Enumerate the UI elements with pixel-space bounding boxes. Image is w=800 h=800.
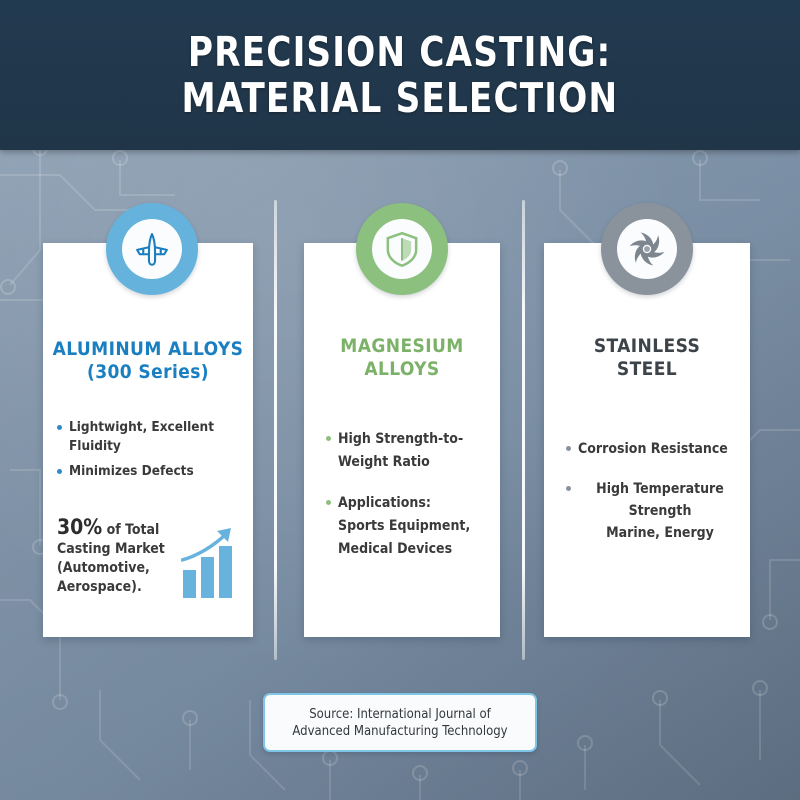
badge-inner-circle xyxy=(122,219,182,279)
badge-aluminum xyxy=(106,203,198,295)
card-title-aluminum-line1: ALUMINUM ALLOYS xyxy=(43,338,253,361)
card-title-stainless: STAINLESS STEEL xyxy=(544,335,750,381)
bullet-dot-icon xyxy=(566,486,571,491)
page-header: PRECISION CASTING: MATERIAL SELECTION xyxy=(0,0,800,150)
bullet-item: High Strength-to- Weight Ratio xyxy=(326,428,490,474)
stat-label-part1: of Total xyxy=(102,522,159,538)
growth-bar-chart-icon xyxy=(181,524,239,600)
source-line1: Source: International Journal of xyxy=(292,706,507,723)
column-divider-2 xyxy=(522,200,525,660)
bullet-text: Corrosion Resistance xyxy=(578,438,742,460)
card-title-magnesium: MAGNESIUM ALLOYS xyxy=(304,335,500,381)
stat-label-line2: Casting Market xyxy=(57,541,165,557)
stat-label-line3: (Automotive, xyxy=(57,560,150,576)
card-title-stainless-line1: STAINLESS xyxy=(544,335,750,358)
page-title-line1: PRECISION CASTING: xyxy=(188,29,611,75)
stat-block-aluminum: 30% of Total Casting Market (Automotive,… xyxy=(57,518,239,600)
material-card-stainless[interactable]: STAINLESS STEEL Corrosion Resistance Hig… xyxy=(544,243,750,637)
bullet-text: Minimizes Defects xyxy=(69,462,194,481)
bullet-text: High Strength-to- Weight Ratio xyxy=(338,428,463,474)
shield-icon xyxy=(382,229,422,269)
bullet-dot-icon xyxy=(326,436,331,441)
bullet-list-magnesium: High Strength-to- Weight Ratio Applicati… xyxy=(304,428,500,579)
bullet-item: Lightwight, Excellent Fluidity xyxy=(57,418,245,456)
columns-area: ALUMINUM ALLOYS (300 Series) Lightwight,… xyxy=(0,150,800,670)
source-box: Source: International Journal of Advance… xyxy=(263,693,537,752)
bullet-dot-icon xyxy=(57,469,62,474)
bullet-text: Lightwight, Excellent Fluidity xyxy=(69,418,245,456)
stat-label-line4: Aerospace). xyxy=(57,579,142,595)
source-line2: Advanced Manufacturing Technology xyxy=(292,723,507,740)
stat-text: 30% of Total Casting Market (Automotive,… xyxy=(57,518,169,597)
card-title-aluminum-line2: (300 Series) xyxy=(43,361,253,384)
bullet-item: Minimizes Defects xyxy=(57,462,245,481)
turbine-impeller-icon xyxy=(625,227,669,271)
bullet-text: High Temperature Strength Marine, Energy xyxy=(578,478,742,544)
bullet-text: Applications: Sports Equipment, Medical … xyxy=(338,492,470,561)
material-card-aluminum[interactable]: ALUMINUM ALLOYS (300 Series) Lightwight,… xyxy=(43,243,253,637)
badge-inner-circle xyxy=(617,219,677,279)
column-divider-1 xyxy=(274,200,277,660)
badge-stainless xyxy=(601,203,693,295)
stat-value: 30% xyxy=(57,515,102,539)
badge-inner-circle xyxy=(372,219,432,279)
source-text: Source: International Journal of Advance… xyxy=(292,706,507,740)
bullet-dot-icon xyxy=(326,500,331,505)
card-title-stainless-line2: STEEL xyxy=(544,358,750,381)
material-card-magnesium[interactable]: MAGNESIUM ALLOYS High Strength-to- Weigh… xyxy=(304,243,500,637)
bullet-item: High Temperature Strength Marine, Energy xyxy=(566,478,742,544)
card-title-aluminum: ALUMINUM ALLOYS (300 Series) xyxy=(43,338,253,384)
card-title-magnesium-line2: ALLOYS xyxy=(304,358,500,381)
badge-magnesium xyxy=(356,203,448,295)
bullet-dot-icon xyxy=(57,425,62,430)
page-title-line2: MATERIAL SELECTION xyxy=(182,75,619,121)
bullet-item: Applications: Sports Equipment, Medical … xyxy=(326,492,490,561)
card-title-magnesium-line1: MAGNESIUM xyxy=(304,335,500,358)
bullet-list-stainless: Corrosion Resistance High Temperature St… xyxy=(544,438,750,562)
bullet-list-aluminum: Lightwight, Excellent Fluidity Minimizes… xyxy=(43,418,253,487)
bullet-dot-icon xyxy=(566,446,571,451)
bullet-item: Corrosion Resistance xyxy=(566,438,742,460)
airplane-icon xyxy=(131,228,173,270)
